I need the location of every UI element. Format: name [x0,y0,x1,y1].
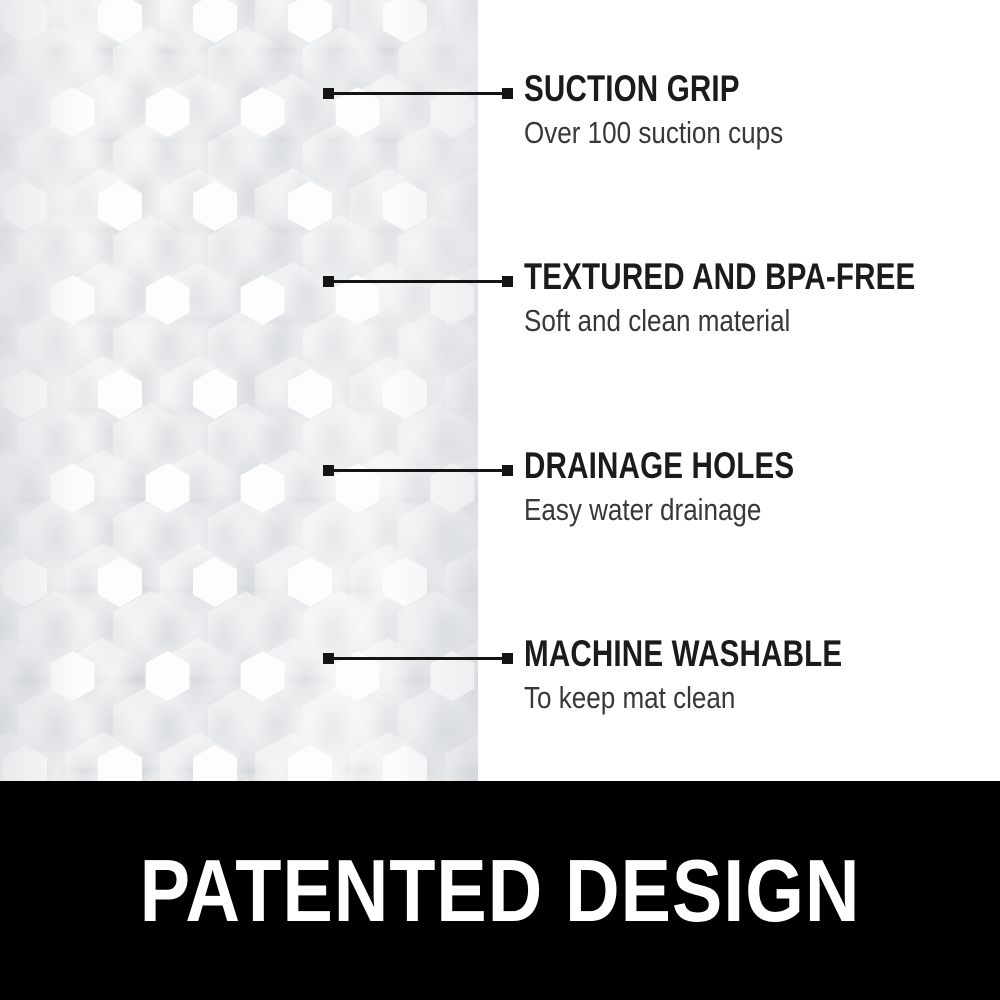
feature-subtitle: To keep mat clean [524,682,858,714]
banner-title: PATENTED DESIGN [140,846,861,936]
feature-title: MACHINE WASHABLE [524,635,842,673]
callout-leader-line [328,657,508,660]
callout-end-dot [502,653,513,664]
callout-anchor-dot [323,276,334,287]
feature-subtitle: Easy water drainage [524,494,808,526]
feature-callout-2: TEXTURED AND BPA-FREESoft and clean mate… [524,258,1000,337]
mat-edge-shading [0,0,478,781]
callout-anchor-dot [323,88,334,99]
feature-subtitle: Soft and clean material [524,305,935,337]
callout-end-dot [502,465,513,476]
callout-end-dot [502,88,513,99]
callout-anchor-dot [323,653,334,664]
product-image-hex-mat [0,0,478,781]
feature-title: DRAINAGE HOLES [524,447,794,485]
callout-leader-line [328,92,508,95]
infographic-page: SUCTION GRIPOver 100 suction cupsTEXTURE… [0,0,1000,1000]
callout-anchor-dot [323,465,334,476]
feature-callout-1: SUCTION GRIPOver 100 suction cups [524,70,832,149]
callout-leader-line [328,469,508,472]
feature-title: SUCTION GRIP [524,70,771,108]
feature-title: TEXTURED AND BPA-FREE [524,258,915,296]
feature-subtitle: Over 100 suction cups [524,117,783,149]
feature-callout-3: DRAINAGE HOLESEasy water drainage [524,447,862,526]
callout-leader-line [328,280,508,283]
callout-end-dot [502,276,513,287]
feature-callout-4: MACHINE WASHABLETo keep mat clean [524,635,922,714]
patented-design-banner: PATENTED DESIGN [0,781,1000,1000]
